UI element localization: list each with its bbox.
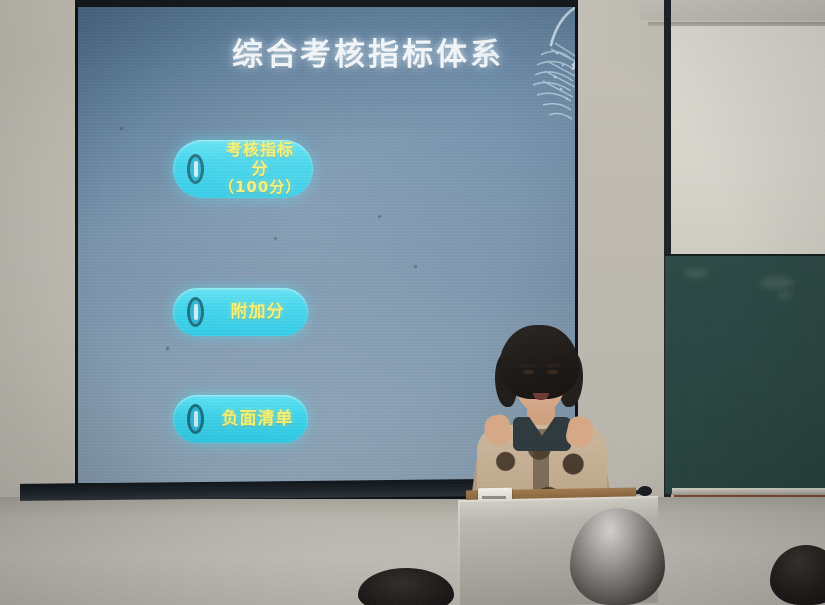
slide-item-text-0: 考核指标分 （100分） bbox=[219, 141, 313, 196]
chalkboard bbox=[665, 254, 825, 494]
slide-title: 综合考核指标体系 bbox=[178, 29, 558, 74]
lecture-hall-photo: 综合考核指标体系 考核指标分 （100分） 附加分 负面清单 bbox=[0, 0, 825, 605]
chalkboard-smudge bbox=[777, 292, 793, 299]
right-wall-panel bbox=[668, 26, 825, 254]
presenter-eyebrow-right bbox=[546, 364, 559, 367]
presenter-eyebrow-left bbox=[522, 364, 535, 367]
slide-item-line2-0: （100分） bbox=[219, 179, 301, 197]
oval-bullet-marker-icon bbox=[187, 297, 204, 327]
slide-item-pill-1: 附加分 bbox=[173, 288, 308, 336]
presenter-eye-right bbox=[547, 370, 558, 374]
presenter-hair bbox=[499, 325, 579, 399]
screen-dust-speck bbox=[166, 347, 169, 350]
slide-item-text-2: 负面清单 bbox=[219, 409, 308, 429]
slide-item-pill-0: 考核指标分 （100分） bbox=[173, 140, 313, 198]
slide-item-pill-2: 负面清单 bbox=[173, 395, 308, 443]
screen-dust-speck bbox=[120, 127, 123, 130]
slide-item-text-1: 附加分 bbox=[219, 302, 308, 322]
microphone-head-icon bbox=[638, 486, 652, 496]
screen-dust-speck bbox=[378, 215, 381, 218]
slide-item-line1-1: 附加分 bbox=[219, 302, 296, 322]
oval-bullet-marker-icon bbox=[187, 404, 204, 434]
slide-item-line1-2: 负面清单 bbox=[219, 409, 296, 429]
slide-item-line1-0: 考核指标分 bbox=[219, 141, 301, 179]
chalk-ledge-metal bbox=[672, 488, 825, 495]
presenter-eye-left bbox=[523, 370, 534, 374]
screen-dust-speck bbox=[274, 237, 277, 240]
screen-dust-speck bbox=[414, 265, 417, 268]
chalkboard-smudge bbox=[760, 276, 794, 289]
chalkboard-smudge bbox=[683, 268, 709, 278]
oval-bullet-marker-icon bbox=[187, 154, 204, 184]
